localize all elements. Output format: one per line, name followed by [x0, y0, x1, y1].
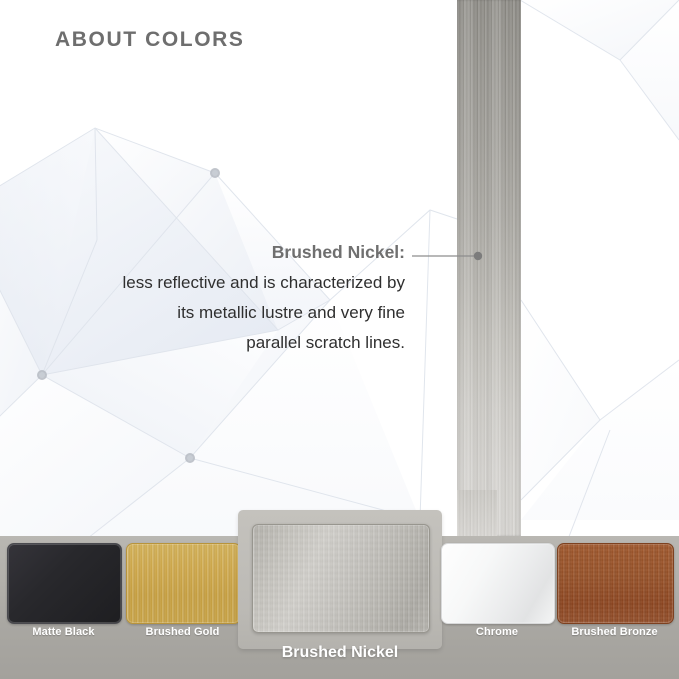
- swatch-label-chrome: Chrome: [441, 626, 553, 638]
- page-title: ABOUT COLORS: [55, 28, 245, 52]
- callout-line-2: its metallic lustre and very fine: [30, 298, 405, 328]
- swatch-label-brushed-gold: Brushed Gold: [126, 626, 239, 638]
- callout-line-1: less reflective and is characterized by: [30, 268, 405, 298]
- leader-dot: [474, 252, 482, 260]
- about-colors-infographic: ABOUT COLORS Brushed Nickel: less reflec…: [0, 0, 679, 679]
- swatch-chip-brushed-bronze[interactable]: [557, 543, 674, 624]
- callout-block: Brushed Nickel: less reflective and is c…: [30, 240, 405, 358]
- swatch-label-brushed-nickel: Brushed Nickel: [238, 644, 442, 662]
- swatch-chip-chrome[interactable]: [441, 543, 555, 624]
- callout-line-3: parallel scratch lines.: [30, 328, 405, 358]
- color-swatch-bar: Matte Black Brushed Gold Brushed Nickel …: [0, 536, 679, 679]
- swatch-chip-matte-black[interactable]: [7, 543, 122, 624]
- swatch-label-matte-black: Matte Black: [7, 626, 120, 638]
- brushed-nickel-strip-lower: [457, 490, 497, 536]
- callout-term: Brushed Nickel:: [30, 240, 405, 264]
- leader-line: [412, 248, 484, 264]
- callout-body: less reflective and is characterized by …: [30, 268, 405, 358]
- swatch-chip-brushed-nickel[interactable]: [252, 524, 430, 633]
- swatch-label-brushed-bronze: Brushed Bronze: [557, 626, 672, 638]
- swatch-chip-brushed-gold[interactable]: [126, 543, 241, 624]
- brushed-nickel-strip: [457, 0, 521, 536]
